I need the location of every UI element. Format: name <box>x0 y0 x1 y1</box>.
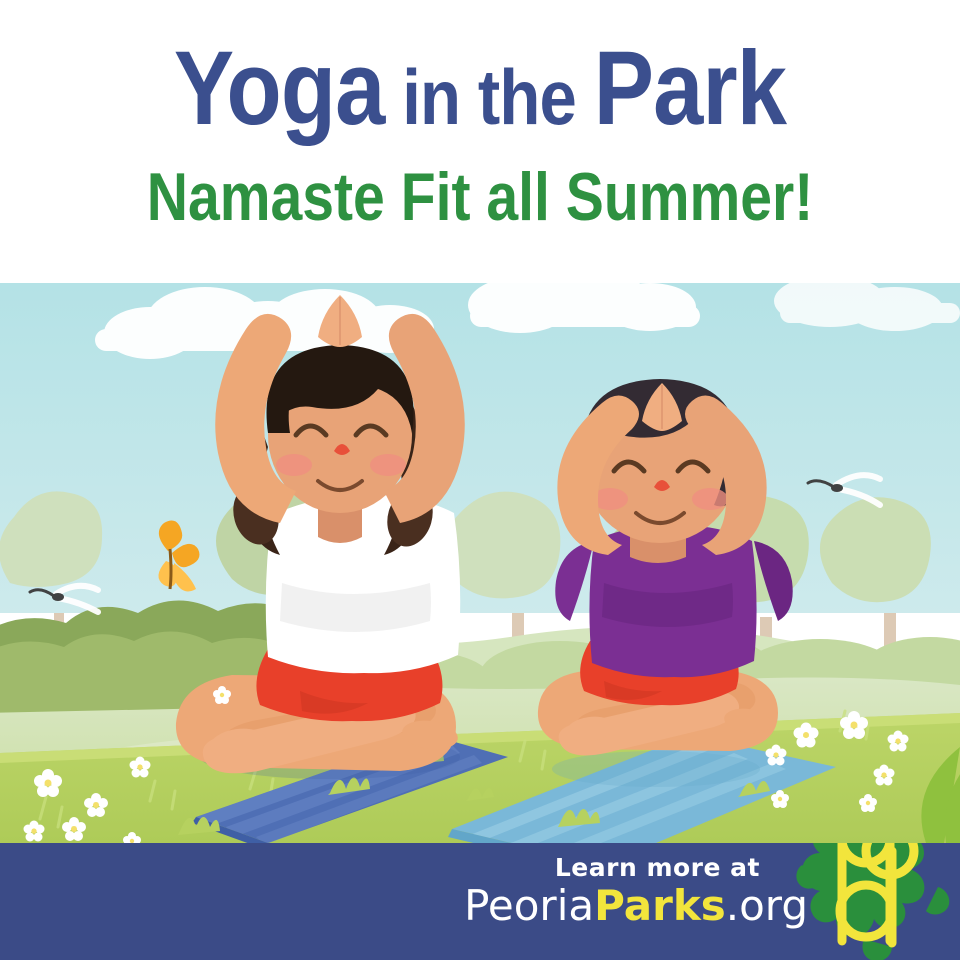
woman-blush-left <box>276 454 312 476</box>
child-blush-right <box>692 488 728 510</box>
title-word-in-the: in the <box>384 53 593 141</box>
poster-footer: Learn more at PeoriaParks.org <box>0 843 960 960</box>
cloud-right <box>468 283 700 333</box>
woman-blush-right <box>370 454 406 476</box>
url-prefix: Peoria <box>464 881 594 930</box>
website-url[interactable]: PeoriaParks.org <box>464 881 808 931</box>
peoria-park-district-logo[interactable] <box>794 843 954 960</box>
title-word-park: Park <box>594 30 786 147</box>
park-illustration <box>0 283 960 843</box>
url-bold: Parks <box>594 881 726 930</box>
page-title: Yoga in the Park <box>67 36 893 150</box>
poster-root: Yoga in the Park Namaste Fit all Summer! <box>0 0 960 960</box>
poster-header: Yoga in the Park Namaste Fit all Summer! <box>0 0 960 283</box>
learn-more-text: Learn more at <box>555 853 760 882</box>
page-subtitle: Namaste Fit all Summer! <box>77 163 883 231</box>
logo-svg <box>794 843 954 960</box>
scene-svg <box>0 283 960 843</box>
title-word-yoga: Yoga <box>174 30 385 147</box>
